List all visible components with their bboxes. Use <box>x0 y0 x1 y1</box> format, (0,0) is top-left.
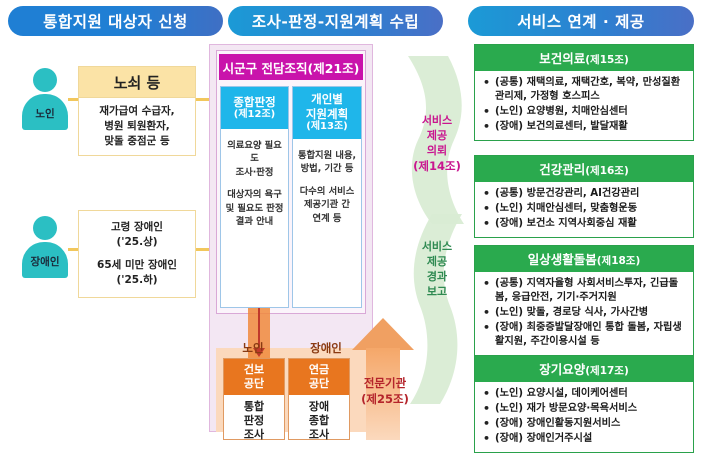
criteria-title-elder: 노쇠 등 <box>79 67 195 98</box>
nhis-head1: 건보 <box>244 363 264 376</box>
person-label-elder: 노인 <box>22 106 68 121</box>
agency-box-nps-body: 장애 종합 조사 <box>289 395 349 443</box>
middle-panel-title: 시군구 전담조직(제21조) <box>219 54 363 80</box>
list-item: (노인) 맞돌, 경로당 식사, 가사간병 <box>479 306 688 320</box>
service-box-health-management-header: 건강관리(제16조) <box>475 156 693 182</box>
criteria-elder-line2: 병원 퇴원환자, <box>104 120 170 132</box>
assessment-box-comprehensive-header: 종합판정 (제12조) <box>221 87 288 129</box>
connector-label-report: 서비스 제공 경과 보고 <box>410 240 464 299</box>
comp-b2l3: 결과 안내 <box>236 216 273 227</box>
plan-article: (제13조) <box>306 121 347 134</box>
connector-label-request: 서비스 제공 의뢰 (제14조) <box>410 114 464 174</box>
rep-l2: 제공 <box>427 255 447 268</box>
expert-label-line2: (제25조) <box>361 392 409 406</box>
service-box-long-term-care-body: (노인) 요양시설, 데이케어센터 (노인) 재가 방문요양·목욕서비스 (장애… <box>475 382 693 452</box>
list-item: (장애) 보건소 지역사회중심 재활 <box>479 217 688 231</box>
agency-box-nhis: 건보 공단 통합 판정 조사 <box>223 358 285 440</box>
criteria-disabled-line3: 65세 미만 장애인 <box>97 259 177 271</box>
criteria-elder-line3: 맞돌 중점군 등 <box>104 135 169 147</box>
nhis-head2: 공단 <box>244 377 264 390</box>
banner-service-delivery: 서비스 연계 · 제공 <box>468 6 694 36</box>
list-item: (장애) 보건의료센터, 발달재활 <box>479 120 688 134</box>
service-box-long-term-care: 장기요양(제17조) (노인) 요양시설, 데이케어센터 (노인) 재가 방문요… <box>474 355 694 453</box>
person-icon-disabled: 장애인 <box>22 216 68 278</box>
service-box-healthcare-header: 보건의료(제15조) <box>475 45 693 71</box>
nhis-b2: 판정 <box>244 414 264 427</box>
assessment-box-individual-plan-body: 통합지원 내용, 방법, 기간 등 다수의 서비스 제공기관 간 연계 등 <box>293 139 361 225</box>
list-item: (장애) 최중증발달장애인 통합 돌봄, 자립생활지원, 주간이용시설 등 <box>479 321 688 349</box>
plan-b2l2: 제공기관 간 <box>304 199 350 210</box>
criteria-box-elder: 노쇠 등 재가급여 수급자, 병원 퇴원환자, 맞돌 중점군 등 <box>78 66 196 156</box>
person-label-disabled: 장애인 <box>22 254 68 269</box>
criteria-disabled-line2: ('25.상) <box>116 236 157 248</box>
list-item: (공통) 방문건강관리, AI건강관리 <box>479 187 688 201</box>
banner-assessment-label: 조사-판정-지원계획 수립 <box>252 10 419 32</box>
banner-application-label: 통합지원 대상자 신청 <box>43 10 188 32</box>
svc3-title: 일상생활돌봄 <box>528 252 597 267</box>
comp-b1l2: 조사·판정 <box>236 167 274 178</box>
svc4-title: 장기요양 <box>539 362 585 377</box>
plan-b2l1: 다수의 서비스 <box>300 186 355 197</box>
list-item: (노인) 요양시설, 데이케어센터 <box>479 387 688 401</box>
criteria-disabled-line4: ('25.하) <box>116 274 157 286</box>
list-item: (장애) 장애인활동지원서비스 <box>479 417 688 431</box>
person-head-icon <box>33 68 57 92</box>
criteria-body-elder: 재가급여 수급자, 병원 퇴원환자, 맞돌 중점군 등 <box>79 98 195 150</box>
list-item: (노인) 치매안심센터, 맞춤형운동 <box>479 202 688 216</box>
service-box-health-management-body: (공통) 방문건강관리, AI건강관리 (노인) 치매안심센터, 맞춤형운동 (… <box>475 182 693 237</box>
service-box-healthcare: 보건의료(제15조) (공통) 재택의료, 재택간호, 복약, 만성질환관리제,… <box>474 44 694 141</box>
svc4-article: (제17조) <box>585 365 629 377</box>
service-box-daily-life-care-header: 일상생활돌봄(제18조) <box>475 246 693 272</box>
plan-b2l3: 연계 등 <box>313 213 342 224</box>
service-box-health-management: 건강관리(제16조) (공통) 방문건강관리, AI건강관리 (노인) 치매안심… <box>474 155 694 238</box>
svc1-article: (제15조) <box>585 54 629 66</box>
nps-head1: 연금 <box>309 363 329 376</box>
assessment-comprehensive-article: (제12조) <box>234 109 275 122</box>
nps-b2: 종합 <box>309 414 329 427</box>
up-arrow-head-icon <box>352 318 414 350</box>
svc1-title: 보건의료 <box>539 51 585 66</box>
nps-head2: 공단 <box>309 377 329 390</box>
assessment-box-comprehensive-body: 의료요양 필요도 조사·판정 대상자의 욕구 및 필요도 판정 결과 안내 <box>221 129 288 229</box>
service-box-daily-life-care-body: (공통) 지역자율형 사회서비스투자, 긴급돌봄, 응급안전, 기기·주거지원 … <box>475 272 693 355</box>
rep-l3: 경과 <box>427 270 447 283</box>
criteria-box-disabled: 고령 장애인 ('25.상) 65세 미만 장애인 ('25.하) <box>78 210 196 298</box>
banner-assessment: 조사-판정-지원계획 수립 <box>228 6 443 36</box>
assessment-box-comprehensive: 종합판정 (제12조) 의료요양 필요도 조사·판정 대상자의 욕구 및 필요도… <box>220 86 289 308</box>
nps-b3: 조사 <box>309 428 329 441</box>
list-item: (공통) 지역자율형 사회서비스투자, 긴급돌봄, 응급안전, 기기·주거지원 <box>479 277 688 305</box>
agency-box-nhis-body: 통합 판정 조사 <box>224 395 284 443</box>
banner-service-delivery-label: 서비스 연계 · 제공 <box>517 10 644 32</box>
criteria-disabled-line1: 고령 장애인 <box>111 221 163 233</box>
person-icon-elder: 노인 <box>22 68 68 130</box>
assessment-box-individual-plan-header: 개인별 지원계획 (제13조) <box>293 87 361 139</box>
rep-l1: 서비스 <box>422 240 452 253</box>
nps-b1: 장애 <box>309 400 329 413</box>
banner-application: 통합지원 대상자 신청 <box>8 6 223 36</box>
agency-group-label-disabled: 장애인 <box>295 340 357 356</box>
agency-box-nps: 연금 공단 장애 종합 조사 <box>288 358 350 440</box>
svc3-article: (제18조) <box>597 255 641 267</box>
list-item: (장애) 장애인거주시설 <box>479 432 688 446</box>
comp-b2l1: 대상자의 욕구 <box>227 189 282 200</box>
assessment-comprehensive-title: 종합판정 <box>233 95 275 109</box>
person-head-icon <box>33 216 57 240</box>
req-l2: 제공 <box>427 129 447 142</box>
req-l1: 서비스 <box>422 114 452 127</box>
service-box-daily-life-care: 일상생활돌봄(제18조) (공통) 지역자율형 사회서비스투자, 긴급돌봄, 응… <box>474 245 694 356</box>
service-box-healthcare-body: (공통) 재택의료, 재택간호, 복약, 만성질환관리제, 가정형 호스피스 (… <box>475 71 693 140</box>
req-article: (제14조) <box>410 159 464 175</box>
list-item: (노인) 재가 방문요양·목욕서비스 <box>479 402 688 416</box>
rep-l4: 보고 <box>427 285 447 298</box>
nhis-b1: 통합 <box>244 400 264 413</box>
agency-box-nps-header: 연금 공단 <box>289 359 349 395</box>
nhis-b3: 조사 <box>244 428 264 441</box>
svc2-title: 건강관리 <box>539 162 585 177</box>
expert-label-line1: 전문기관 <box>364 376 406 390</box>
plan-b1l1: 통합지원 내용, <box>298 150 356 161</box>
comp-b1l1: 의료요양 필요도 <box>227 140 282 164</box>
agency-group-label-elder: 노인 <box>226 340 280 356</box>
plan-b1l2: 방법, 기간 등 <box>301 163 354 174</box>
agency-box-nhis-header: 건보 공단 <box>224 359 284 395</box>
service-box-long-term-care-header: 장기요양(제17조) <box>475 356 693 382</box>
comp-b2l2: 및 필요도 판정 <box>226 203 284 214</box>
assessment-box-individual-plan: 개인별 지원계획 (제13조) 통합지원 내용, 방법, 기간 등 다수의 서비… <box>292 86 362 308</box>
svc2-article: (제16조) <box>585 165 629 177</box>
plan-title-line2: 지원계획 <box>306 107 348 121</box>
list-item: (노인) 요양병원, 치매안심센터 <box>479 105 688 119</box>
req-l3: 의뢰 <box>427 144 447 157</box>
criteria-body-disabled: 고령 장애인 ('25.상) 65세 미만 장애인 ('25.하) <box>79 211 195 297</box>
plan-title-line1: 개인별 <box>311 92 343 106</box>
criteria-elder-line1: 재가급여 수급자, <box>99 105 174 117</box>
list-item: (공통) 재택의료, 재택간호, 복약, 만성질환관리제, 가정형 호스피스 <box>479 76 688 104</box>
